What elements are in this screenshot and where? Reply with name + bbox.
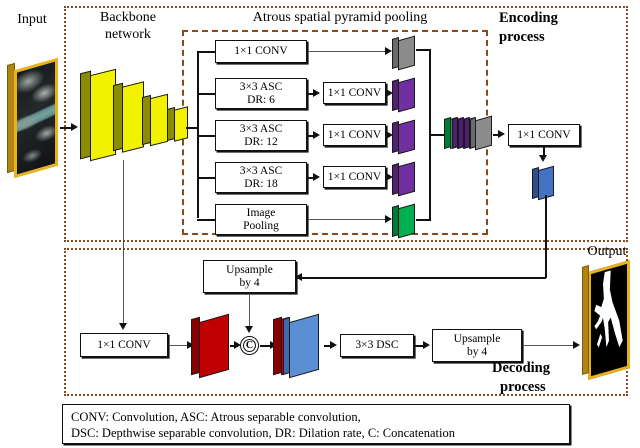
encoder-conv-box-label: 1×1 CONV: [517, 129, 570, 142]
legend-box: CONV: Convolution, ASC: Atrous separable…: [62, 404, 570, 444]
aspp-box-5-label-1: Image: [247, 207, 276, 220]
conn-encoder-to-decoder-v: [545, 195, 547, 278]
concat-feature-stack: [450, 118, 494, 152]
aspp-box-5-label-2: Pooling: [243, 220, 279, 233]
input-image: [14, 64, 58, 172]
diagram-canvas: Input Backbone network Atrous spatial py…: [0, 0, 640, 448]
conn-fused-to-dsc-arrow: [330, 341, 337, 349]
aspp-box-5[interactable]: Image Pooling: [215, 204, 307, 235]
decoder-dsc-label: 3×3 DSC: [355, 339, 398, 352]
aspp-feature-green: [398, 206, 415, 236]
aspp-feature-gray: [398, 38, 415, 68]
gather-stub-top: [416, 49, 430, 51]
output-label: Output: [576, 244, 638, 259]
conn-backbone-lowlevel-arrow: [119, 323, 127, 330]
aspp-mid-arrow-3: [313, 131, 320, 139]
aspp-stub-3: [197, 135, 215, 137]
aspp-box-4[interactable]: 3×3 ASC DR: 18: [215, 162, 307, 193]
conn-encoder-conv-down-arrow: [539, 155, 547, 162]
aspp-title: Atrous spatial pyramid pooling: [215, 10, 465, 26]
backbone-block-2: [122, 84, 144, 150]
aspp-conv-box-4[interactable]: 1×1 CONV: [323, 166, 386, 188]
aspp-stub-5: [197, 219, 215, 221]
decoder-lowlevel-conv-box[interactable]: 1×1 CONV: [80, 333, 168, 357]
output-image-pane: [588, 260, 630, 380]
concatenation-node[interactable]: C: [240, 336, 259, 355]
conn-backbone-lowlevel: [123, 160, 124, 325]
encoder-output-feature: [538, 168, 554, 198]
aspp-box-1[interactable]: 1×1 CONV: [215, 40, 307, 63]
aspp-box-4-label-1: 3×3 ASC: [240, 165, 283, 178]
aspp-box-3-label-2: DR: 12: [244, 136, 278, 149]
conn-encoder-to-decoder-h: [303, 277, 546, 279]
decoder-lowlevel-feature: [199, 318, 229, 374]
conn-upsample-to-output: [523, 345, 575, 346]
input-label: Input: [2, 12, 62, 27]
aspp-mid-arrow-2: [313, 89, 320, 97]
input-image-pane: [14, 58, 58, 179]
conn-lowlevelconv-to-red: [169, 345, 189, 346]
encoder-conv-box[interactable]: 1×1 CONV: [508, 124, 580, 146]
backbone-label-line2: network: [78, 27, 178, 42]
conn-concat-to-conv-arrow: [498, 130, 505, 138]
aspp-box-2[interactable]: 3×3 ASC DR: 6: [215, 78, 307, 109]
decoding-label-line2: process: [500, 379, 610, 396]
aspp-feature-purple-3: [398, 164, 415, 194]
decoder-lowlevel-conv-label: 1×1 CONV: [97, 339, 150, 352]
conn-upsample-to-output-arrow: [573, 341, 580, 349]
decoder-upsample-out-label-1: Upsample: [454, 333, 501, 346]
encoding-label-line2: process: [499, 29, 609, 46]
aspp-conv-box-2-label: 1×1 CONV: [328, 87, 381, 100]
aspp-conv-box-4-label: 1×1 CONV: [328, 171, 381, 184]
concatenation-node-label: C: [246, 340, 253, 351]
aspp-stub-1: [197, 51, 215, 53]
conn-input-backbone-arrow: [71, 123, 78, 131]
aspp-conv-box-2[interactable]: 1×1 CONV: [323, 82, 386, 104]
legend-line-2: DSC: Depthwise separable convolution, DR…: [71, 425, 561, 441]
conn-upsample-to-concat-arrow: [245, 326, 253, 333]
aspp-stub-2: [197, 93, 215, 95]
aspp-box-3[interactable]: 3×3 ASC DR: 12: [215, 120, 307, 151]
conn-decoder-upsample-in: [296, 277, 304, 279]
conn-upsample-to-concat: [249, 295, 250, 328]
aspp-mid-arrow-4: [313, 173, 320, 181]
decoder-upsample-top-box[interactable]: Upsample by 4: [203, 260, 296, 293]
aspp-stub-4: [197, 177, 215, 179]
aspp-out-arrow-1: [385, 47, 392, 55]
encoding-label-line1: Encoding: [499, 10, 609, 27]
aspp-feature-purple-1: [398, 80, 415, 110]
aspp-out-arrow-5: [385, 215, 392, 223]
aspp-conv-box-3[interactable]: 1×1 CONV: [323, 124, 386, 146]
gather-stub-bottom: [416, 219, 430, 221]
decoder-upsample-out-box[interactable]: Upsample by 4: [432, 329, 522, 362]
aspp-out-line-5: [308, 219, 386, 220]
legend-line-1: CONV: Convolution, ASC: Atrous separable…: [71, 409, 561, 425]
decoder-upsample-top-label-2: by 4: [239, 277, 259, 290]
aspp-out-line-1: [308, 51, 386, 52]
aspp-box-3-label-1: 3×3 ASC: [240, 123, 283, 136]
decoder-dsc-box[interactable]: 3×3 DSC: [340, 334, 414, 357]
backbone-label-line1: Backbone: [78, 10, 178, 25]
output-image: [588, 266, 630, 374]
backbone-block-3: [150, 96, 168, 144]
decoder-upsample-out-label-2: by 4: [467, 346, 487, 359]
backbone-block-4: [174, 108, 188, 140]
aspp-box-4-label-2: DR: 18: [244, 178, 278, 191]
conn-dsc-to-upsample-arrow: [423, 341, 430, 349]
decoder-upsample-top-label-1: Upsample: [226, 264, 273, 277]
decoder-fused-feature: [281, 318, 323, 374]
aspp-box-1-label: 1×1 CONV: [234, 45, 287, 58]
aspp-box-2-label-1: 3×3 ASC: [240, 81, 283, 94]
aspp-feature-purple-2: [398, 122, 415, 152]
aspp-box-2-label-2: DR: 6: [247, 94, 275, 107]
output-mask-shape: [591, 264, 627, 376]
aspp-conv-box-3-label: 1×1 CONV: [328, 129, 381, 142]
